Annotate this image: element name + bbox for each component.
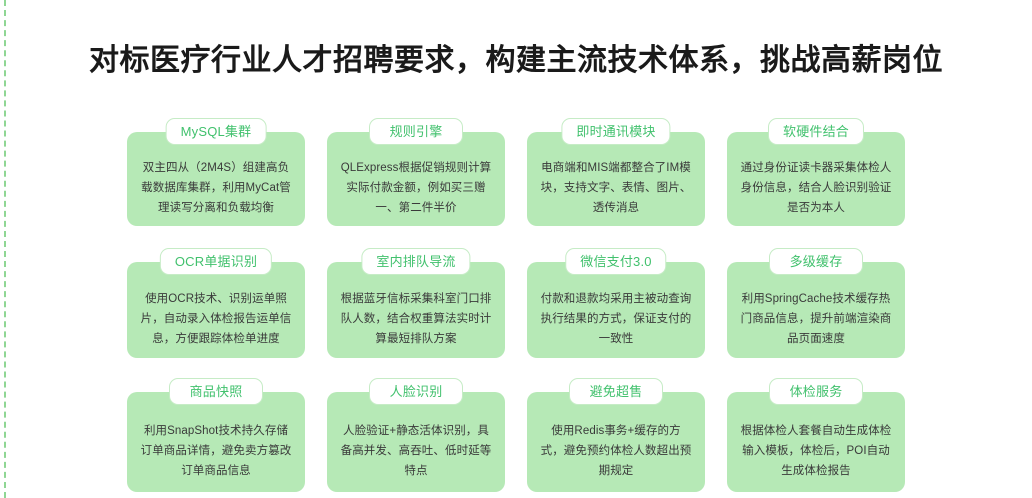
feature-card-title-pill: MySQL集群 (166, 118, 267, 145)
feature-card-title: 微信支付3.0 (580, 255, 651, 268)
feature-card-description: 根据体检人套餐自动生成体检输入模板，体检后，POI自动生成体检报告 (740, 421, 892, 481)
feature-card-title: 室内排队导流 (376, 255, 455, 268)
feature-card-title-pill: 规则引擎 (369, 118, 463, 145)
feature-card-title-pill: 避免超售 (569, 378, 663, 405)
feature-card[interactable]: QLExpress根据促销规则计算实际付款金额，例如买三赠一、第二件半价 规则引… (327, 118, 505, 226)
feature-card-description: 使用Redis事务+缓存的方式，避免预约体检人数超出预期规定 (540, 421, 692, 481)
feature-card[interactable]: 利用SnapShot技术持久存储订单商品详情，避免卖方篡改订单商品信息 商品快照 (127, 378, 305, 486)
feature-card[interactable]: 人脸验证+静态活体识别，具备高并发、高吞吐、低时延等特点 人脸识别 (327, 378, 505, 486)
feature-card[interactable]: 利用SpringCache技术缓存热门商品信息，提升前端渲染商品页面速度 多级缓… (727, 248, 905, 356)
feature-card[interactable]: 电商端和MIS端都整合了IM模块，支持文字、表情、图片、透传消息 即时通讯模块 (527, 118, 705, 226)
feature-card-description: 付款和退款均采用主被动查询执行结果的方式，保证支付的一致性 (540, 289, 692, 349)
feature-card-title: OCR单据识别 (175, 255, 257, 268)
feature-card-title: 多级缓存 (790, 255, 843, 268)
feature-card-description: 使用OCR技术、识别运单照片，自动录入体检报告运单信息，方便跟踪体检单进度 (140, 289, 292, 349)
feature-card-body: 根据体检人套餐自动生成体检输入模板，体检后，POI自动生成体检报告 (727, 392, 905, 492)
feature-card-body: 利用SpringCache技术缓存热门商品信息，提升前端渲染商品页面速度 (727, 262, 905, 358)
feature-card[interactable]: 通过身份证读卡器采集体检人身份信息，结合人脸识别验证是否为本人 软硬件结合 (727, 118, 905, 226)
feature-card-title-pill: 室内排队导流 (361, 248, 470, 275)
feature-card-title: 规则引擎 (390, 125, 443, 138)
feature-card[interactable]: 根据体检人套餐自动生成体检输入模板，体检后，POI自动生成体检报告 体检服务 (727, 378, 905, 486)
feature-card-title-pill: 人脸识别 (369, 378, 463, 405)
feature-card-description: 利用SpringCache技术缓存热门商品信息，提升前端渲染商品页面速度 (740, 289, 892, 349)
feature-card[interactable]: 根据蓝牙信标采集科室门口排队人数，结合权重算法实时计算最短排队方案 室内排队导流 (327, 248, 505, 356)
feature-card-grid: 双主四从（2M4S）组建高负载数据库集群，利用MyCat管理读写分离和负载均衡 … (127, 118, 905, 486)
feature-card-description: 电商端和MIS端都整合了IM模块，支持文字、表情、图片、透传消息 (540, 158, 692, 218)
feature-card-title: 软硬件结合 (783, 125, 849, 138)
feature-card-body: QLExpress根据促销规则计算实际付款金额，例如买三赠一、第二件半价 (327, 132, 505, 226)
feature-card-title-pill: 体检服务 (769, 378, 863, 405)
feature-card[interactable]: 付款和退款均采用主被动查询执行结果的方式，保证支付的一致性 微信支付3.0 (527, 248, 705, 356)
feature-card[interactable]: 双主四从（2M4S）组建高负载数据库集群，利用MyCat管理读写分离和负载均衡 … (127, 118, 305, 226)
feature-card[interactable]: 使用OCR技术、识别运单照片，自动录入体检报告运单信息，方便跟踪体检单进度 OC… (127, 248, 305, 356)
feature-card-title-pill: 微信支付3.0 (565, 248, 666, 275)
feature-card-title-pill: 即时通讯模块 (561, 118, 670, 145)
feature-card-description: 根据蓝牙信标采集科室门口排队人数，结合权重算法实时计算最短排队方案 (340, 289, 492, 349)
feature-card-title: 人脸识别 (390, 385, 443, 398)
feature-card-title: 即时通讯模块 (576, 125, 655, 138)
feature-card-title: 商品快照 (190, 385, 243, 398)
feature-card-body: 使用OCR技术、识别运单照片，自动录入体检报告运单信息，方便跟踪体检单进度 (127, 262, 305, 358)
feature-card-body: 电商端和MIS端都整合了IM模块，支持文字、表情、图片、透传消息 (527, 132, 705, 226)
feature-card-description: 通过身份证读卡器采集体检人身份信息，结合人脸识别验证是否为本人 (740, 158, 892, 218)
feature-card-title: 体检服务 (790, 385, 843, 398)
feature-card-description: 双主四从（2M4S）组建高负载数据库集群，利用MyCat管理读写分离和负载均衡 (140, 158, 292, 218)
feature-card-title: MySQL集群 (181, 125, 252, 138)
feature-card-title-pill: 多级缓存 (769, 248, 863, 275)
feature-card[interactable]: 使用Redis事务+缓存的方式，避免预约体检人数超出预期规定 避免超售 (527, 378, 705, 486)
feature-card-body: 人脸验证+静态活体识别，具备高并发、高吞吐、低时延等特点 (327, 392, 505, 492)
feature-card-description: 利用SnapShot技术持久存储订单商品详情，避免卖方篡改订单商品信息 (140, 421, 292, 481)
slide: 对标医疗行业人才招聘要求，构建主流技术体系，挑战高薪岗位 双主四从（2M4S）组… (0, 0, 1032, 498)
feature-card-body: 利用SnapShot技术持久存储订单商品详情，避免卖方篡改订单商品信息 (127, 392, 305, 492)
page-title: 对标医疗行业人才招聘要求，构建主流技术体系，挑战高薪岗位 (0, 41, 1032, 81)
feature-card-body: 双主四从（2M4S）组建高负载数据库集群，利用MyCat管理读写分离和负载均衡 (127, 132, 305, 226)
feature-card-title-pill: 商品快照 (169, 378, 263, 405)
feature-card-title-pill: 软硬件结合 (768, 118, 864, 145)
feature-card-title-pill: OCR单据识别 (160, 248, 272, 275)
feature-card-body: 通过身份证读卡器采集体检人身份信息，结合人脸识别验证是否为本人 (727, 132, 905, 226)
feature-card-body: 付款和退款均采用主被动查询执行结果的方式，保证支付的一致性 (527, 262, 705, 358)
feature-card-body: 使用Redis事务+缓存的方式，避免预约体检人数超出预期规定 (527, 392, 705, 492)
feature-card-title: 避免超售 (590, 385, 643, 398)
feature-card-description: 人脸验证+静态活体识别，具备高并发、高吞吐、低时延等特点 (340, 421, 492, 481)
feature-card-body: 根据蓝牙信标采集科室门口排队人数，结合权重算法实时计算最短排队方案 (327, 262, 505, 358)
feature-card-description: QLExpress根据促销规则计算实际付款金额，例如买三赠一、第二件半价 (340, 158, 492, 218)
